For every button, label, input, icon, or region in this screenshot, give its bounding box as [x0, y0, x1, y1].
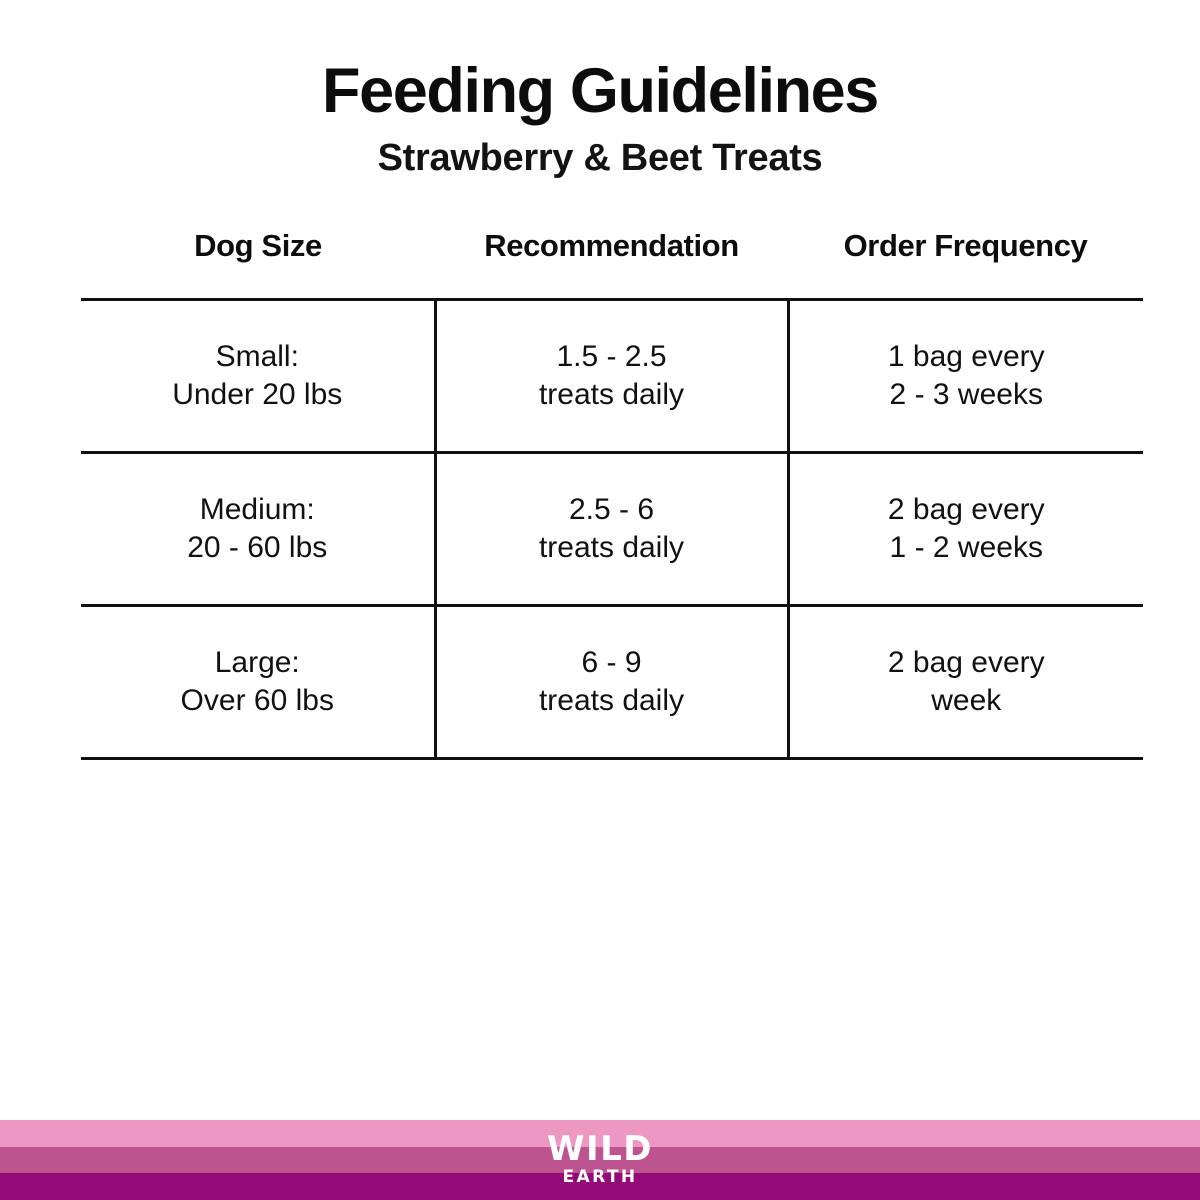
cell-line: Large:: [89, 644, 426, 682]
page-title: Feeding Guidelines: [0, 58, 1200, 124]
cell-line: Small:: [89, 338, 426, 376]
cell-line: treats daily: [445, 682, 779, 720]
table-row: Medium: 20 - 60 lbs 2.5 - 6 treats daily…: [81, 453, 1143, 606]
cell-recommendation: 2.5 - 6 treats daily: [435, 453, 788, 606]
feeding-table-container: Dog Size Recommendation Order Frequency …: [81, 228, 1143, 760]
cell-line: treats daily: [445, 376, 779, 414]
cell-line: treats daily: [445, 529, 779, 567]
table-header: Dog Size Recommendation Order Frequency: [81, 228, 1143, 300]
cell-dog-size: Small: Under 20 lbs: [81, 300, 435, 453]
feeding-guidelines-table: Dog Size Recommendation Order Frequency …: [81, 228, 1143, 760]
cell-line: 1 bag every: [798, 338, 1136, 376]
table-row: Small: Under 20 lbs 1.5 - 2.5 treats dai…: [81, 300, 1143, 453]
cell-line: 2 - 3 weeks: [798, 376, 1136, 414]
cell-line: Under 20 lbs: [89, 376, 426, 414]
cell-line: 1 - 2 weeks: [798, 529, 1136, 567]
table-body: Small: Under 20 lbs 1.5 - 2.5 treats dai…: [81, 300, 1143, 759]
cell-line: 2 bag every: [798, 491, 1136, 529]
heading-block: Feeding Guidelines Strawberry & Beet Tre…: [0, 0, 1200, 180]
table-header-row: Dog Size Recommendation Order Frequency: [81, 228, 1143, 300]
column-header-order-frequency: Order Frequency: [788, 228, 1143, 300]
cell-dog-size: Medium: 20 - 60 lbs: [81, 453, 435, 606]
cell-line: 1.5 - 2.5: [445, 338, 779, 376]
cell-line: Over 60 lbs: [89, 682, 426, 720]
cell-line: 2 bag every: [798, 644, 1136, 682]
cell-line: 2.5 - 6: [445, 491, 779, 529]
cell-order-frequency: 2 bag every week: [788, 606, 1143, 759]
cell-line: 6 - 9: [445, 644, 779, 682]
wild-earth-logo: WILD EARTH: [0, 1120, 1200, 1200]
brand-name-secondary: EARTH: [563, 1169, 638, 1186]
cell-line: week: [798, 682, 1136, 720]
page-subtitle: Strawberry & Beet Treats: [0, 138, 1200, 180]
cell-order-frequency: 1 bag every 2 - 3 weeks: [788, 300, 1143, 453]
brand-footer: WILD EARTH: [0, 1120, 1200, 1200]
brand-name-primary: WILD: [547, 1134, 653, 1165]
feeding-guidelines-page: Feeding Guidelines Strawberry & Beet Tre…: [0, 0, 1200, 1200]
column-header-dog-size: Dog Size: [81, 228, 435, 300]
cell-recommendation: 1.5 - 2.5 treats daily: [435, 300, 788, 453]
column-header-recommendation: Recommendation: [435, 228, 788, 300]
cell-order-frequency: 2 bag every 1 - 2 weeks: [788, 453, 1143, 606]
cell-dog-size: Large: Over 60 lbs: [81, 606, 435, 759]
cell-recommendation: 6 - 9 treats daily: [435, 606, 788, 759]
cell-line: Medium:: [89, 491, 426, 529]
table-row: Large: Over 60 lbs 6 - 9 treats daily 2 …: [81, 606, 1143, 759]
cell-line: 20 - 60 lbs: [89, 529, 426, 567]
